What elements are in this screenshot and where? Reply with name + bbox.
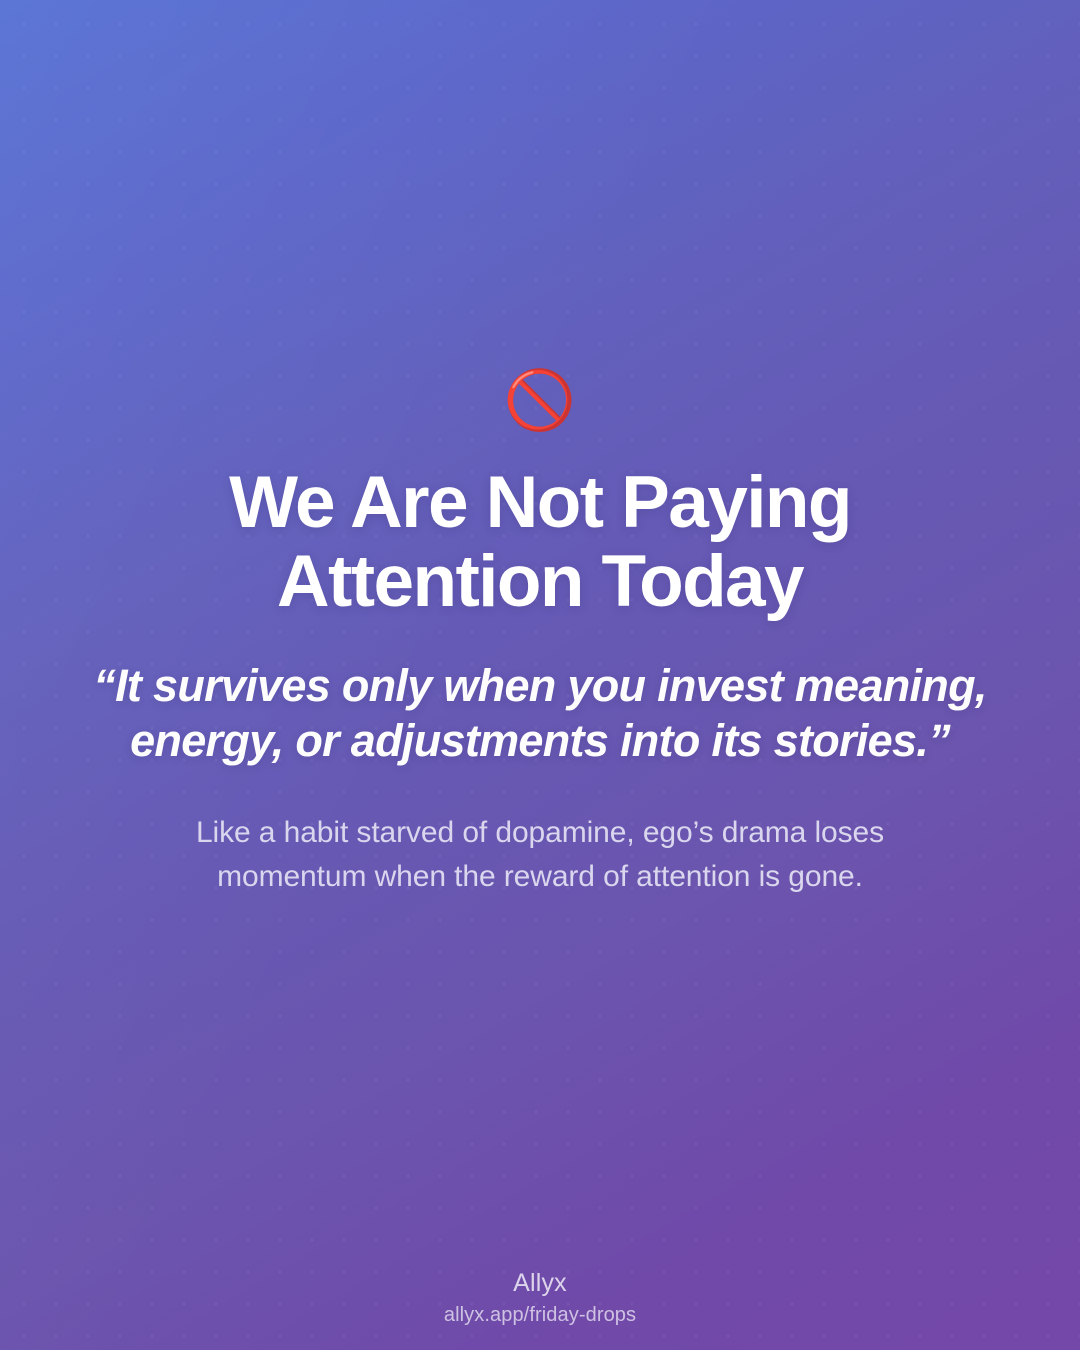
quote-card: 🚫 We Are Not Paying Attention Today “It …: [0, 0, 1080, 1350]
prohibited-sign-icon: 🚫: [504, 372, 576, 434]
pull-quote: “It survives only when you invest meanin…: [90, 658, 990, 770]
headline: We Are Not Paying Attention Today: [160, 464, 920, 622]
brand-name: Allyx: [0, 1268, 1080, 1299]
brand-url: allyx.app/friday-drops: [0, 1302, 1080, 1328]
card-footer: Allyx allyx.app/friday-drops: [0, 1268, 1080, 1328]
card-content: 🚫 We Are Not Paying Attention Today “It …: [0, 0, 1080, 1350]
body-copy: Like a habit starved of dopamine, ego’s …: [120, 811, 960, 899]
